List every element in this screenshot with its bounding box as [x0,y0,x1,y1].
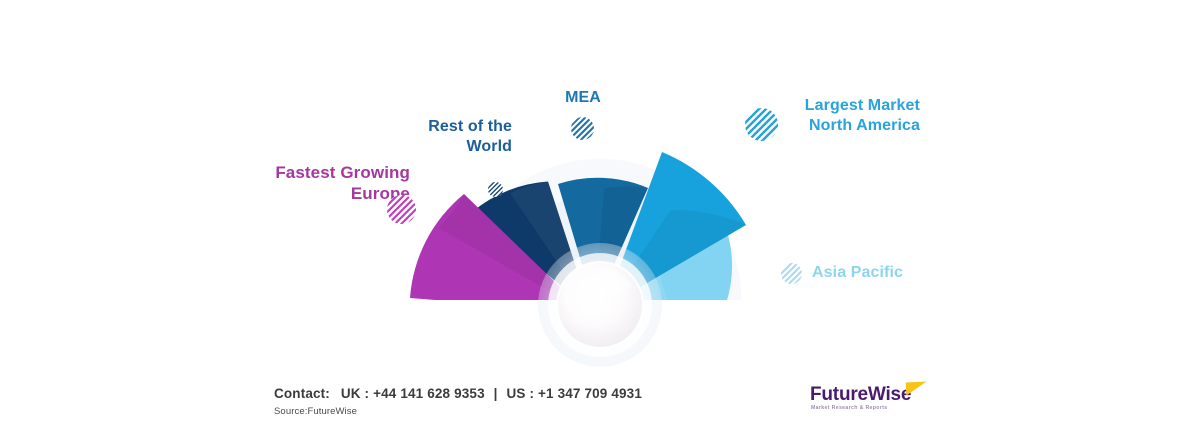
chart-center-hub [538,243,662,367]
contact-separator: | [494,386,498,401]
footer-source: Source:FutureWise [274,406,357,417]
bullet-asia-pacific-icon [781,263,802,284]
logo-text-future: Future [810,384,868,405]
label-europe: Fastest Growing Europe [170,163,410,204]
bullet-north-america-icon [745,108,778,141]
label-mea: MEA [520,88,646,108]
label-rest-of-world-line2: World [360,137,512,157]
logo-tagline: Market Research & Reports [811,405,888,411]
label-europe-annotation: Fastest Growing [170,163,410,184]
label-europe-region: Europe [170,184,410,205]
contact-label: Contact: [274,386,330,401]
bullet-europe-icon [387,195,416,224]
logo-text-wise: Wise [868,384,911,405]
logo-wordmark: FutureWise [810,384,911,406]
contact-us: US : +1 347 709 4931 [507,386,642,401]
label-rest-of-world: Rest of the World [360,117,512,156]
label-asia-pacific-region: Asia Pacific [812,263,962,283]
bullet-rest-of-world-icon [488,182,503,197]
footer-contact-line: Contact: UK : +44 141 628 9353 | US : +1… [274,386,642,401]
contact-uk: UK : +44 141 628 9353 [341,386,485,401]
label-asia-pacific: Asia Pacific [812,263,962,283]
label-rest-of-world-line1: Rest of the [360,117,512,137]
label-mea-region: MEA [520,88,646,108]
futurewise-logo[interactable]: FutureWise Market Research & Reports [810,384,930,418]
bullet-mea-icon [571,117,594,140]
regional-market-infographic: Fastest Growing Europe Rest of the World… [0,0,1200,428]
logo-swoosh-icon [906,381,928,395]
